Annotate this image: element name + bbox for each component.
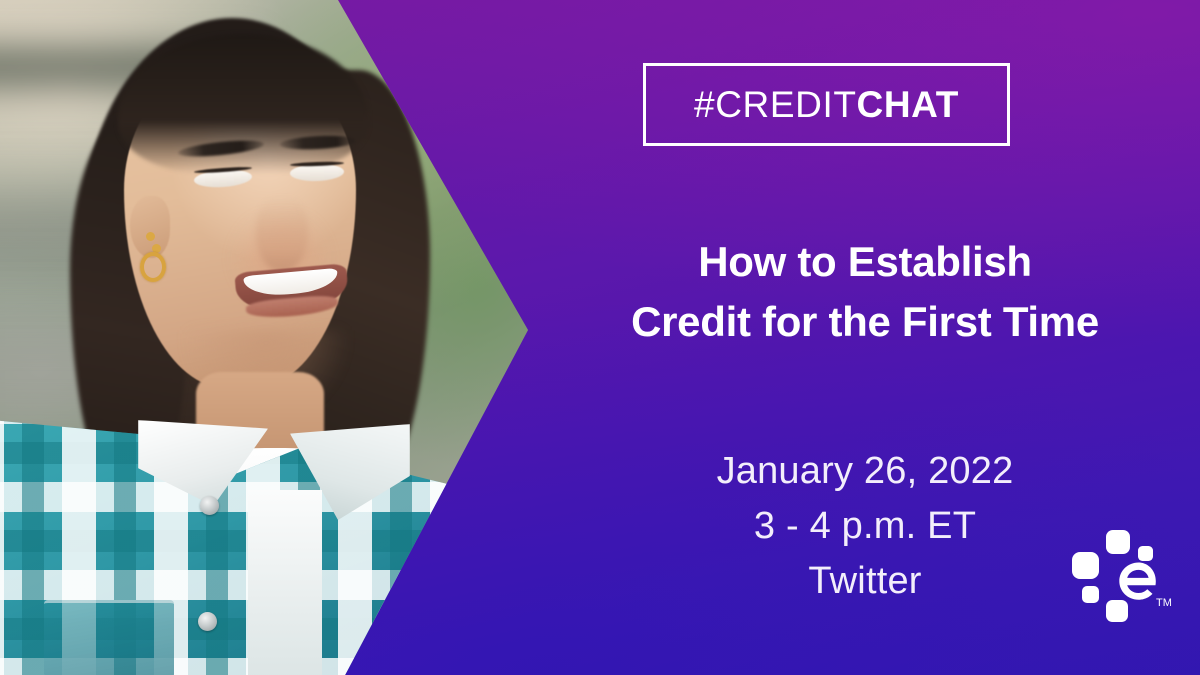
hoop-earring: [140, 252, 166, 282]
credit-chat-badge-label: #CREDITCHAT: [694, 84, 959, 126]
headline-line-2: Credit for the First Time: [530, 292, 1200, 352]
jacket-snap-lower: [198, 612, 217, 631]
nose: [256, 196, 308, 272]
badge-suffix: CHAT: [857, 84, 959, 125]
jacket-snap-upper: [200, 496, 219, 515]
iris-right: [322, 164, 339, 181]
credit-chat-promo-card: #CREDITCHAT How to Establish Credit for …: [0, 0, 1200, 675]
jacket-placket: [248, 490, 322, 675]
credit-chat-badge: #CREDITCHAT: [643, 63, 1010, 146]
earring-stud-upper: [146, 232, 155, 241]
headline-line-1: How to Establish: [530, 232, 1200, 292]
trademark-symbol: TM: [1156, 597, 1172, 609]
event-date: January 26, 2022: [530, 444, 1200, 499]
iris-left: [228, 170, 245, 187]
ear: [130, 196, 170, 258]
jacket-pocket: [44, 600, 174, 675]
experian-logo: TM: [1068, 524, 1174, 624]
headline: How to Establish Credit for the First Ti…: [530, 232, 1200, 351]
badge-prefix: #CREDIT: [694, 84, 857, 125]
